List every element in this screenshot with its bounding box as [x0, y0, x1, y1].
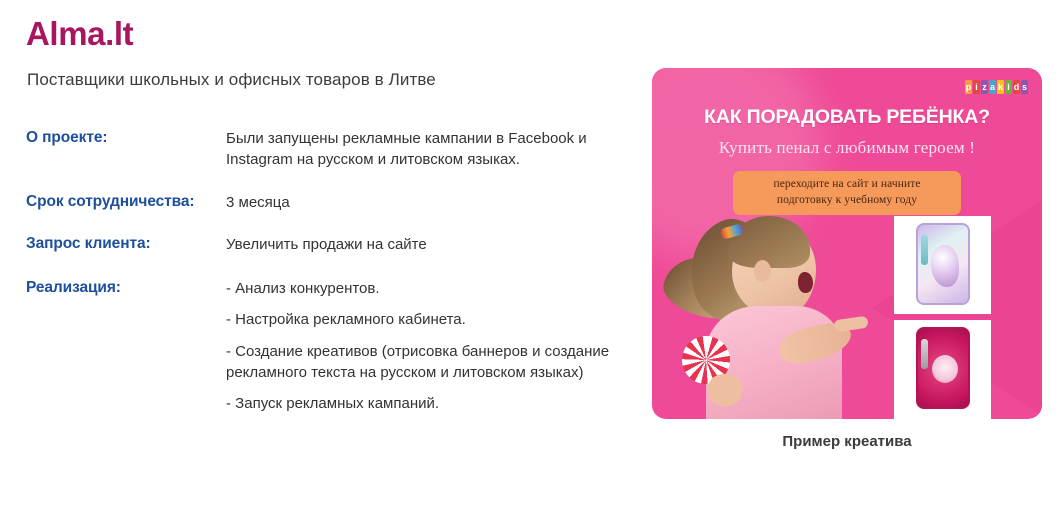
- cta-line-1: переходите на сайт и начните: [741, 177, 953, 193]
- creative-caption: Пример креатива: [652, 433, 1042, 450]
- page-title: Alma.lt: [26, 17, 133, 50]
- ad-banner: p i z a k i d s КАК ПОРАДОВАТЬ РЕБЁНКА? …: [652, 68, 1042, 419]
- list-item: - Запуск рекламных кампаний.: [226, 393, 626, 414]
- info-value-implementation: - Анализ конкурентов. - Настройка реклам…: [226, 278, 626, 414]
- product-tile-unicorn[interactable]: [894, 216, 991, 314]
- pizakids-logo: p i z a k i d s: [965, 80, 1028, 94]
- logo-letter: p: [965, 80, 972, 94]
- implementation-list: - Анализ конкурентов. - Настройка реклам…: [226, 278, 626, 414]
- project-info-table: О проекте: Были запущены рекламные кампа…: [26, 128, 626, 415]
- logo-letter: i: [973, 80, 980, 94]
- table-row: Реализация: - Анализ конкурентов. - Наст…: [26, 278, 626, 414]
- logo-letter: k: [997, 80, 1004, 94]
- banner-headline: КАК ПОРАДОВАТЬ РЕБЁНКА?: [652, 106, 1042, 129]
- list-item: - Анализ конкурентов.: [226, 278, 626, 299]
- pencil-case-unicorn: [916, 223, 970, 305]
- list-item: - Создание креативов (отрисовка баннеров…: [226, 341, 626, 384]
- list-item: - Настройка рекламного кабинета.: [226, 309, 626, 330]
- info-value-about: Были запущены рекламные кампании в Faceb…: [226, 128, 626, 171]
- creative-example-image: p i z a k i d s КАК ПОРАДОВАТЬ РЕБЁНКА? …: [652, 68, 1042, 419]
- info-value-request: Увеличить продажи на сайте: [226, 234, 626, 255]
- open-mouth: [798, 272, 813, 293]
- info-label-about: О проекте:: [26, 128, 226, 147]
- ear: [754, 260, 771, 282]
- cta-button[interactable]: переходите на сайт и начните подготовку …: [733, 171, 961, 215]
- cta-line-2: подготовку к учебному году: [741, 193, 953, 209]
- pointing-finger: [833, 316, 868, 333]
- table-row: Запрос клиента: Увеличить продажи на сай…: [26, 234, 626, 255]
- pencil-case-pink: [916, 327, 970, 409]
- logo-letter: s: [1021, 80, 1028, 94]
- logo-letter: a: [989, 80, 996, 94]
- hand-holding-lollipop: [708, 374, 742, 406]
- info-label-term: Срок сотрудничества:: [26, 192, 226, 211]
- banner-subheadline: Купить пенал с любимым героем !: [652, 138, 1042, 158]
- info-label-request: Запрос клиента:: [26, 234, 226, 253]
- product-tile-pink[interactable]: [894, 320, 991, 419]
- girl-photo: [658, 214, 863, 419]
- logo-letter: i: [1005, 80, 1012, 94]
- page-subtitle: Поставщики школьных и офисных товаров в …: [27, 70, 436, 90]
- zipper-icon: [921, 339, 928, 369]
- table-row: Срок сотрудничества: 3 месяца: [26, 192, 626, 213]
- info-label-implementation: Реализация:: [26, 278, 226, 297]
- table-row: О проекте: Были запущены рекламные кампа…: [26, 128, 626, 171]
- zipper-icon: [921, 235, 928, 265]
- logo-letter: d: [1013, 80, 1020, 94]
- info-value-term: 3 месяца: [226, 192, 626, 213]
- logo-letter: z: [981, 80, 988, 94]
